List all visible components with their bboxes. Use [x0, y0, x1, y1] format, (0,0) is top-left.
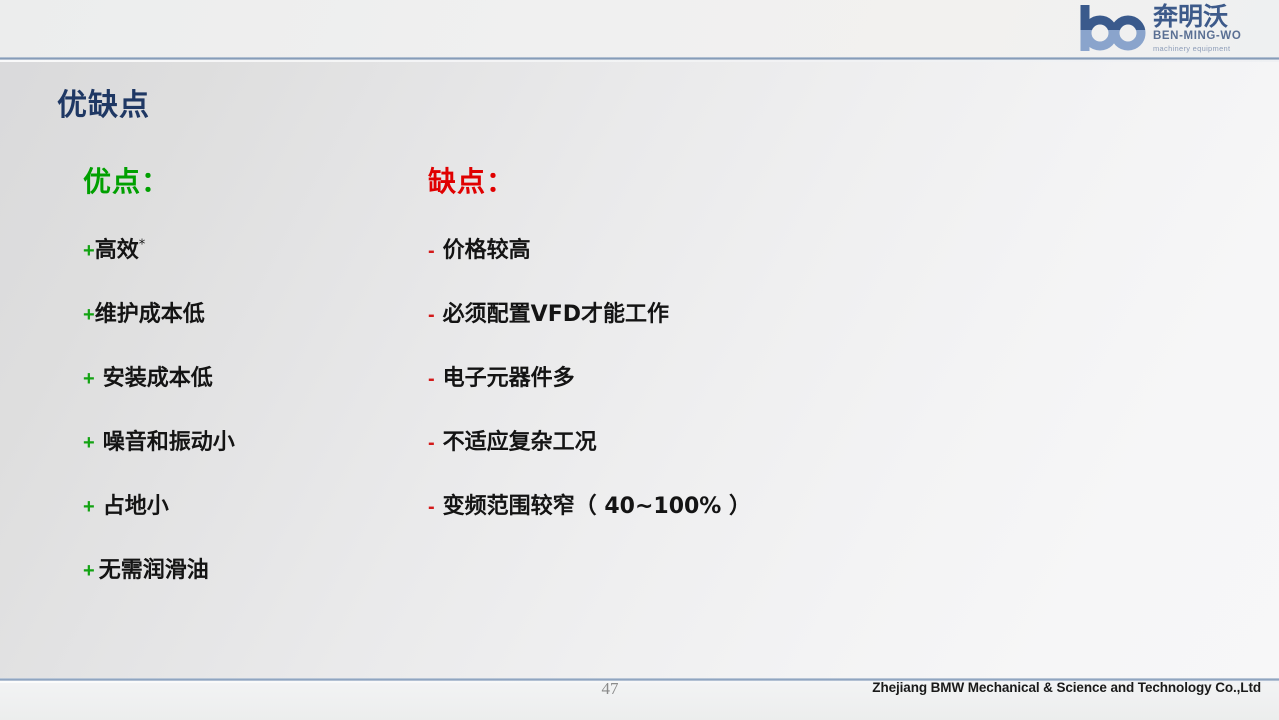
- page-number: 47: [590, 679, 630, 699]
- list-item: -变频范围较窄（ 40~100% ）: [428, 488, 988, 552]
- logo-text-block: 奔明沃 BEN-MING-WO machinery equipment: [1153, 4, 1241, 52]
- list-item-label: 安装成本低: [103, 360, 213, 392]
- list-item-label: 维护成本低: [95, 296, 205, 328]
- list-item: +噪音和振动小: [83, 424, 423, 488]
- list-item: +维护成本低: [83, 296, 423, 360]
- list-item: +高效*: [83, 232, 423, 296]
- list-item: +无需润滑油: [83, 552, 423, 616]
- bullet-marker-icon: +: [83, 560, 95, 583]
- bullet-marker-icon: +: [83, 368, 95, 391]
- list-item-label: 不适应复杂工况: [443, 424, 597, 456]
- bullet-marker-icon: -: [428, 432, 435, 455]
- list-item-label: 必须配置VFD才能工作: [443, 296, 669, 328]
- list-item-label: 噪音和振动小: [103, 424, 235, 456]
- list-item: -价格较高: [428, 232, 988, 296]
- list-item: +占地小: [83, 488, 423, 552]
- bullet-marker-icon: +: [83, 496, 95, 519]
- bo-monogram-icon: [1079, 5, 1151, 51]
- cons-heading: 缺点：: [428, 160, 988, 194]
- bullet-marker-icon: -: [428, 496, 435, 519]
- list-item-label: 价格较高: [443, 232, 531, 264]
- pros-list: +高效*+维护成本低+安装成本低+噪音和振动小+占地小+无需润滑油: [83, 232, 423, 616]
- pros-column: 优点： +高效*+维护成本低+安装成本低+噪音和振动小+占地小+无需润滑油: [83, 160, 423, 616]
- footer-company-name: Zhejiang BMW Mechanical & Science and Te…: [872, 680, 1261, 695]
- bullet-marker-icon: +: [83, 432, 95, 455]
- cons-column: 缺点： -价格较高-必须配置VFD才能工作-电子元器件多-不适应复杂工况-变频范…: [428, 160, 988, 552]
- page-title: 优缺点: [57, 80, 150, 124]
- list-item: -电子元器件多: [428, 360, 988, 424]
- footnote-marker: *: [139, 238, 146, 253]
- list-item-label: 高效*: [95, 232, 146, 264]
- list-item-label: 占地小: [103, 488, 169, 520]
- bullet-marker-icon: +: [83, 240, 95, 263]
- list-item: -必须配置VFD才能工作: [428, 296, 988, 360]
- list-item-label: 无需润滑油: [99, 552, 209, 584]
- list-item: +安装成本低: [83, 360, 423, 424]
- cons-list: -价格较高-必须配置VFD才能工作-电子元器件多-不适应复杂工况-变频范围较窄（…: [428, 232, 988, 552]
- presentation-slide: 奔明沃 BEN-MING-WO machinery equipment 优缺点 …: [0, 0, 1279, 720]
- bullet-marker-icon: +: [83, 304, 95, 327]
- logo-name-cn: 奔明沃: [1153, 4, 1241, 29]
- bullet-marker-icon: -: [428, 240, 435, 263]
- bullet-marker-icon: -: [428, 304, 435, 327]
- header-divider-highlight: [0, 60, 1279, 62]
- bullet-marker-icon: -: [428, 368, 435, 391]
- pros-heading: 优点：: [83, 160, 423, 194]
- logo-name-en: BEN-MING-WO: [1153, 31, 1241, 43]
- company-logo: 奔明沃 BEN-MING-WO machinery equipment: [1079, 2, 1271, 54]
- list-item-label: 电子元器件多: [443, 360, 575, 392]
- list-item-label: 变频范围较窄（ 40~100% ）: [443, 488, 751, 520]
- logo-tagline: machinery equipment: [1153, 45, 1241, 53]
- list-item: -不适应复杂工况: [428, 424, 988, 488]
